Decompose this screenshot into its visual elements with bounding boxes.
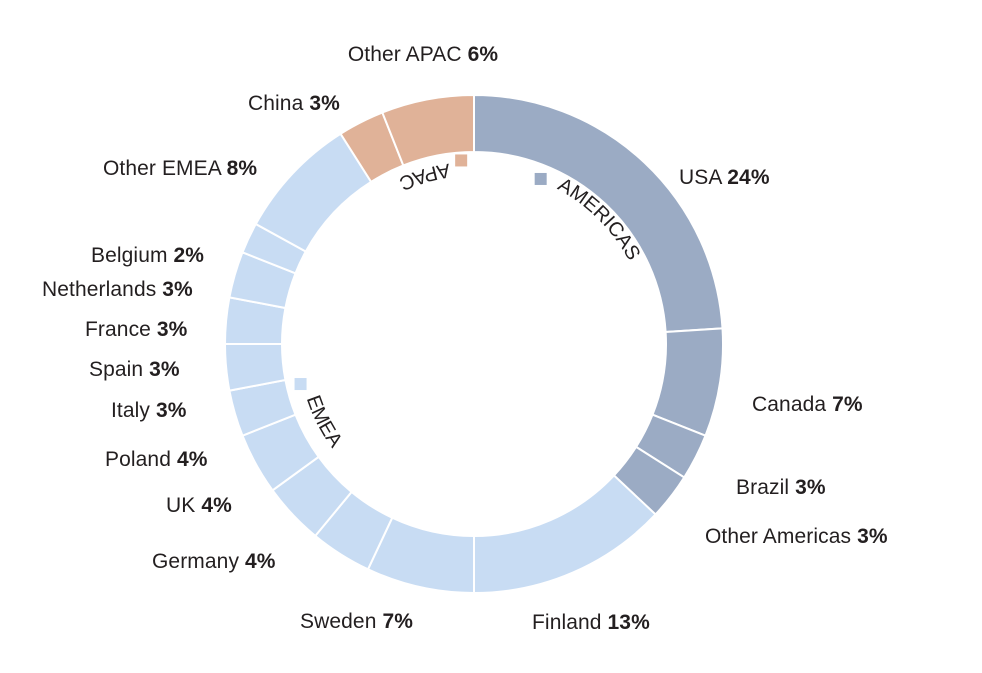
slice-label-france-pct: 3% [157, 318, 188, 341]
slice-label-italy-name: Italy [111, 399, 150, 422]
slice-label-spain-name: Spain [89, 358, 143, 381]
slice-label-germany-name: Germany [152, 550, 239, 573]
slice-label-china: China 3% [248, 91, 340, 116]
slice-label-france: France 3% [85, 317, 187, 342]
slice-label-other-emea-pct: 8% [227, 157, 258, 180]
slice-label-usa-pct: 24% [727, 166, 769, 189]
slice-label-spain: Spain 3% [89, 357, 180, 382]
slice-label-other-emea: Other EMEA 8% [103, 156, 257, 181]
slice-label-sweden-name: Sweden [300, 610, 377, 633]
slice-label-other-americas-pct: 3% [857, 525, 888, 548]
slice-label-italy: Italy 3% [111, 398, 187, 423]
slice-label-poland-name: Poland [105, 448, 171, 471]
donut-chart: AMERICASEMEAAPAC Other APAC 6% China 3% … [0, 0, 982, 673]
slice-label-other-americas: Other Americas 3% [705, 524, 888, 549]
slice-label-sweden: Sweden 7% [300, 609, 413, 634]
slice-label-uk-name: UK [166, 494, 195, 517]
slice-label-poland: Poland 4% [105, 447, 208, 472]
slice-label-other-emea-name: Other EMEA [103, 157, 221, 180]
slice-label-brazil: Brazil 3% [736, 475, 826, 500]
slice-label-other-apac: Other APAC 6% [348, 42, 498, 67]
slice-label-finland-name: Finland [532, 611, 602, 634]
slice-label-belgium-pct: 2% [174, 244, 205, 267]
slice-label-other-americas-name: Other Americas [705, 525, 851, 548]
group-swatch-apac-icon [455, 154, 467, 166]
group-swatch-emea-icon [295, 378, 307, 390]
slice-label-brazil-name: Brazil [736, 476, 789, 499]
slice-label-germany: Germany 4% [152, 549, 276, 574]
slice-label-china-name: China [248, 92, 303, 115]
slice-label-china-pct: 3% [309, 92, 340, 115]
slice-label-belgium: Belgium 2% [91, 243, 204, 268]
slice-label-canada-name: Canada [752, 393, 826, 416]
slice-label-belgium-name: Belgium [91, 244, 168, 267]
slice-label-finland: Finland 13% [532, 610, 650, 635]
slice-label-uk-pct: 4% [201, 494, 232, 517]
slice-label-netherlands-pct: 3% [162, 278, 193, 301]
slice-label-other-apac-name: Other APAC [348, 43, 462, 66]
slice-label-brazil-pct: 3% [795, 476, 826, 499]
slice-label-germany-pct: 4% [245, 550, 276, 573]
slice-label-canada-pct: 7% [832, 393, 863, 416]
slice-label-sweden-pct: 7% [382, 610, 413, 633]
slice-label-spain-pct: 3% [149, 358, 180, 381]
donut-slices [225, 95, 723, 593]
slice-label-france-name: France [85, 318, 151, 341]
slice-label-other-apac-pct: 6% [468, 43, 499, 66]
slice-label-uk: UK 4% [166, 493, 232, 518]
slice-label-netherlands: Netherlands 3% [42, 277, 193, 302]
slice-label-poland-pct: 4% [177, 448, 208, 471]
slice-label-italy-pct: 3% [156, 399, 187, 422]
slice-label-canada: Canada 7% [752, 392, 863, 417]
donut-slice-finland[interactable] [474, 475, 656, 593]
slice-label-usa-name: USA [679, 166, 721, 189]
slice-label-netherlands-name: Netherlands [42, 278, 156, 301]
slice-label-finland-pct: 13% [608, 611, 650, 634]
slice-label-usa: USA 24% [679, 165, 770, 190]
group-swatch-americas-icon [535, 173, 547, 185]
